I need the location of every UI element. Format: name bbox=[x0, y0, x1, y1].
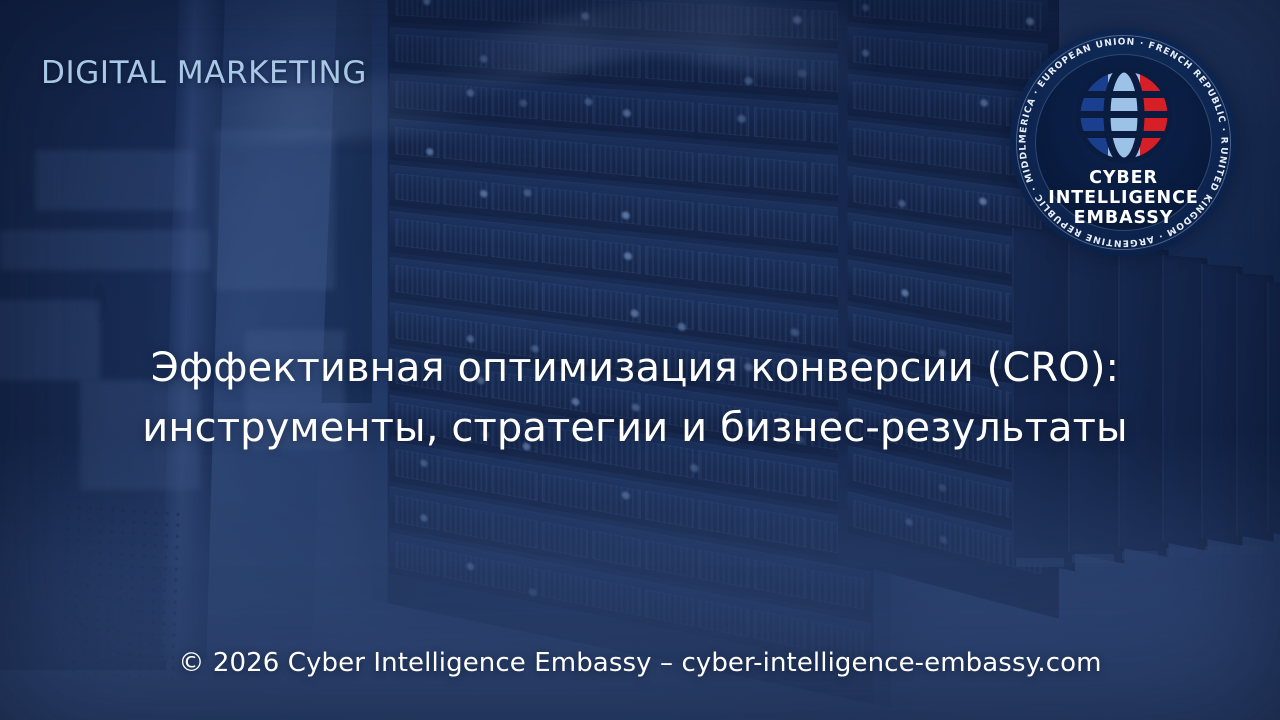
kicker-label: DIGITAL MARKETING bbox=[41, 55, 367, 91]
globe-icon bbox=[1074, 65, 1174, 165]
logo-word-2: INTELLIGENCE bbox=[1010, 188, 1237, 208]
cyber-intelligence-embassy-logo: UNITED STATES OF AMERICA · EUROPEAN UNIO… bbox=[1010, 29, 1237, 256]
logo-word-3: EMBASSY bbox=[1010, 208, 1237, 228]
page-title: Эффективная оптимизация конверсии (CRO):… bbox=[0, 338, 1280, 458]
logo-wordmark: CYBER INTELLIGENCE EMBASSY bbox=[1010, 168, 1237, 228]
title-line-2: инструменты, стратегии и бизнес-результа… bbox=[0, 398, 1270, 458]
footer-copyright: © 2026 Cyber Intelligence Embassy – cybe… bbox=[0, 648, 1280, 678]
logo-word-1: CYBER bbox=[1010, 168, 1237, 188]
slide-canvas: DIGITAL MARKETING Эффективная оптимизаци… bbox=[0, 0, 1280, 720]
title-line-1: Эффективная оптимизация конверсии (CRO): bbox=[0, 338, 1270, 398]
